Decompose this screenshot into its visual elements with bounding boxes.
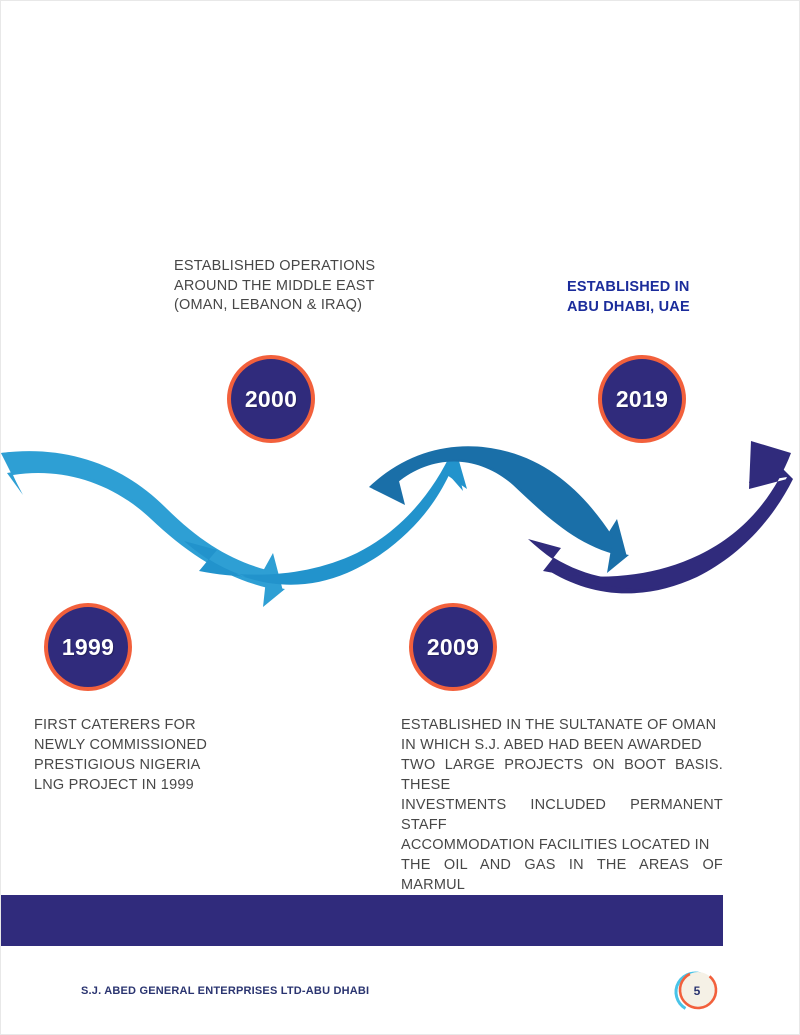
caption-2019-line-1: ESTABLISHED IN <box>567 278 747 298</box>
caption-2009-line-5: ACCOMMODATION FACILITIES LOCATED IN <box>401 835 723 855</box>
page-number-badge: 5 <box>673 967 721 1015</box>
caption-1999-line-1: FIRST CATERERS FOR <box>34 715 230 735</box>
footer-navy-bar <box>1 895 723 946</box>
year-marker-1999[interactable]: 1999 <box>44 603 132 691</box>
caption-1999: FIRST CATERERS FOR NEWLY COMMISSIONED PR… <box>34 715 230 795</box>
caption-1999-line-3: PRESTIGIOUS NIGERIA <box>34 755 230 775</box>
caption-2000-line-2: AROUND THE MIDDLE EAST <box>174 277 414 297</box>
wave-segment-3-body <box>369 446 629 573</box>
caption-2000: ESTABLISHED OPERATIONS AROUND THE MIDDLE… <box>174 257 414 316</box>
caption-2009-line-3: TWO LARGE PROJECTS ON BOOT BASIS. THESE <box>401 755 723 795</box>
caption-1999-line-2: NEWLY COMMISSIONED <box>34 735 230 755</box>
caption-1999-line-4: LNG PROJECT IN 1999 <box>34 775 230 795</box>
caption-2009-line-6: THE OIL AND GAS IN THE AREAS OF MARMUL <box>401 855 723 895</box>
year-marker-2000[interactable]: 2000 <box>227 355 315 443</box>
page-number-label: 5 <box>673 967 721 1015</box>
caption-2000-line-1: ESTABLISHED OPERATIONS <box>174 257 414 277</box>
year-label-2009: 2009 <box>427 636 479 659</box>
year-label-2019: 2019 <box>616 388 668 411</box>
caption-2000-line-3: (OMAN, LEBANON & IRAQ) <box>174 296 414 316</box>
wave-segment-1-body <box>1 451 285 607</box>
document-page: ESTABLISHED OPERATIONS AROUND THE MIDDLE… <box>0 0 800 1035</box>
caption-2009-line-1: ESTABLISHED IN THE SULTANATE OF OMAN <box>401 715 723 735</box>
year-label-1999: 1999 <box>62 636 114 659</box>
caption-2019: ESTABLISHED IN ABU DHABI, UAE <box>567 278 747 317</box>
caption-2019-line-2: ABU DHABI, UAE <box>567 298 747 318</box>
year-marker-2009[interactable]: 2009 <box>409 603 497 691</box>
caption-2009-line-2: IN WHICH S.J. ABED HAD BEEN AWARDED <box>401 735 723 755</box>
year-label-2000: 2000 <box>245 388 297 411</box>
timeline-wave-ribbon <box>1 431 800 611</box>
year-marker-2019[interactable]: 2019 <box>598 355 686 443</box>
footer-company-name: S.J. ABED GENERAL ENTERPRISES LTD-ABU DH… <box>81 985 369 997</box>
caption-2009-line-4: INVESTMENTS INCLUDED PERMANENT STAFF <box>401 795 723 835</box>
